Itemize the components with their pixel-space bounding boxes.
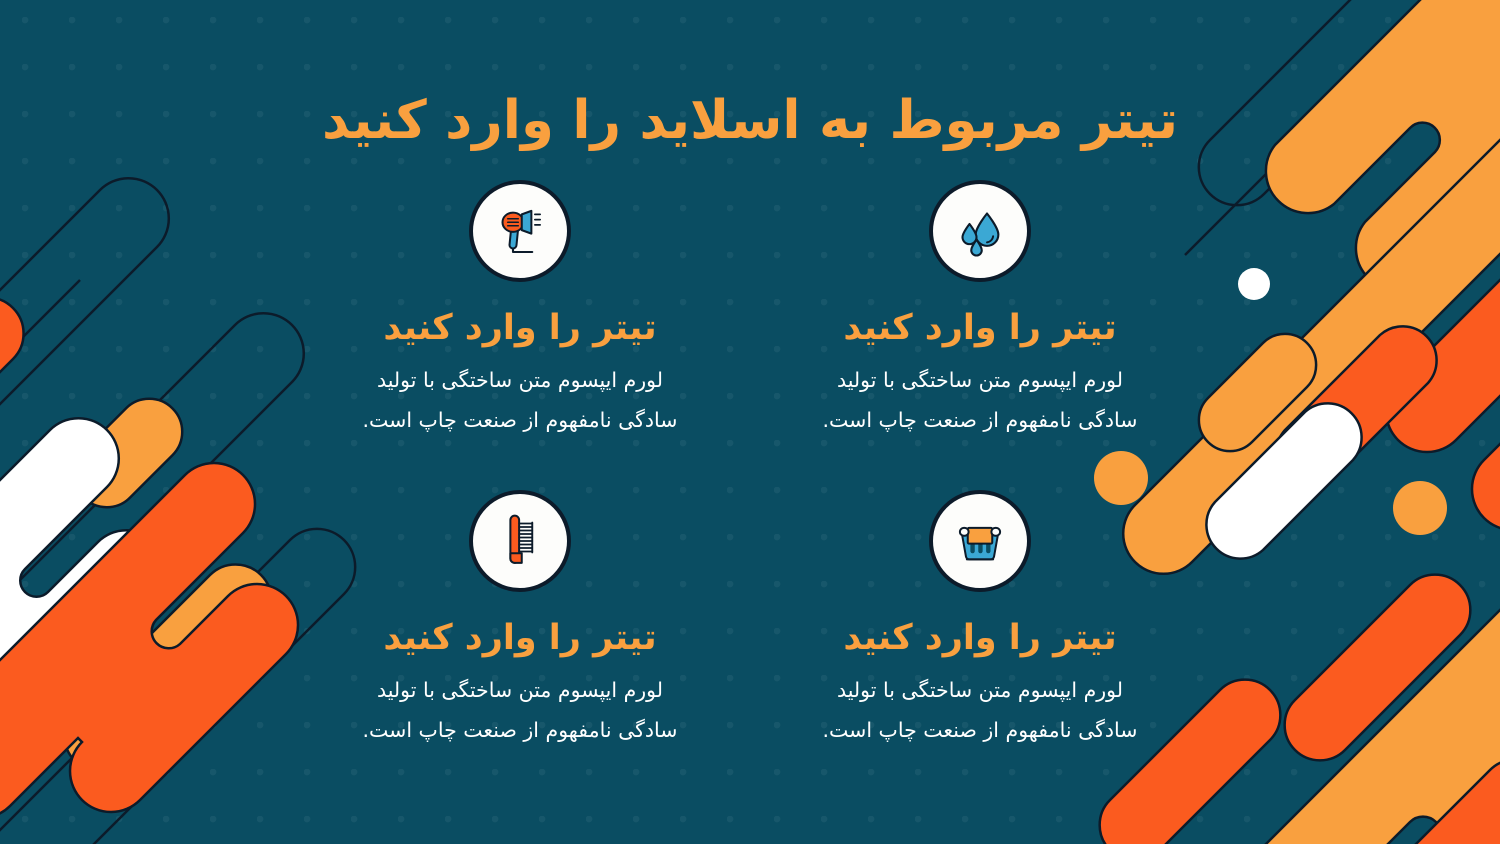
comb-icon [492,513,548,569]
hair-dryer-icon [492,203,548,259]
water-drops-icon [952,203,1008,259]
icon-badge-2[interactable] [469,180,571,282]
card-body-1: لورم ایپسوم متن ساختگی با تولید سادگی نا… [810,361,1150,441]
card-body-3: لورم ایپسوم متن ساختگی با تولید سادگی نا… [810,671,1150,751]
feature-card-4[interactable]: تیتر را وارد کنید لورم ایپسوم متن ساختگی… [290,490,750,800]
card-title-1: تیتر را وارد کنید [843,307,1116,349]
slide-canvas: تیتر مربوط به اسلاید را وارد کنید [0,0,1500,844]
icon-badge-3[interactable] [929,490,1031,592]
card-body-4: لورم ایپسوم متن ساختگی با تولید سادگی نا… [350,671,690,751]
wash-basin-towel-icon [952,513,1008,569]
card-title-2: تیتر را وارد کنید [383,307,656,349]
page-title: تیتر مربوط به اسلاید را وارد کنید [0,88,1500,154]
card-title-3: تیتر را وارد کنید [843,617,1116,659]
feature-card-3[interactable]: تیتر را وارد کنید لورم ایپسوم متن ساختگی… [750,490,1210,800]
feature-card-1[interactable]: تیتر را وارد کنید لورم ایپسوم متن ساختگی… [750,180,1210,490]
card-title-4: تیتر را وارد کنید [383,617,656,659]
feature-card-grid: تیتر را وارد کنید لورم ایپسوم متن ساختگی… [290,180,1210,800]
feature-card-2[interactable]: تیتر را وارد کنید لورم ایپسوم متن ساختگی… [290,180,750,490]
slide-content: تیتر مربوط به اسلاید را وارد کنید [0,0,1500,844]
icon-badge-4[interactable] [469,490,571,592]
card-body-2: لورم ایپسوم متن ساختگی با تولید سادگی نا… [350,361,690,441]
icon-badge-1[interactable] [929,180,1031,282]
